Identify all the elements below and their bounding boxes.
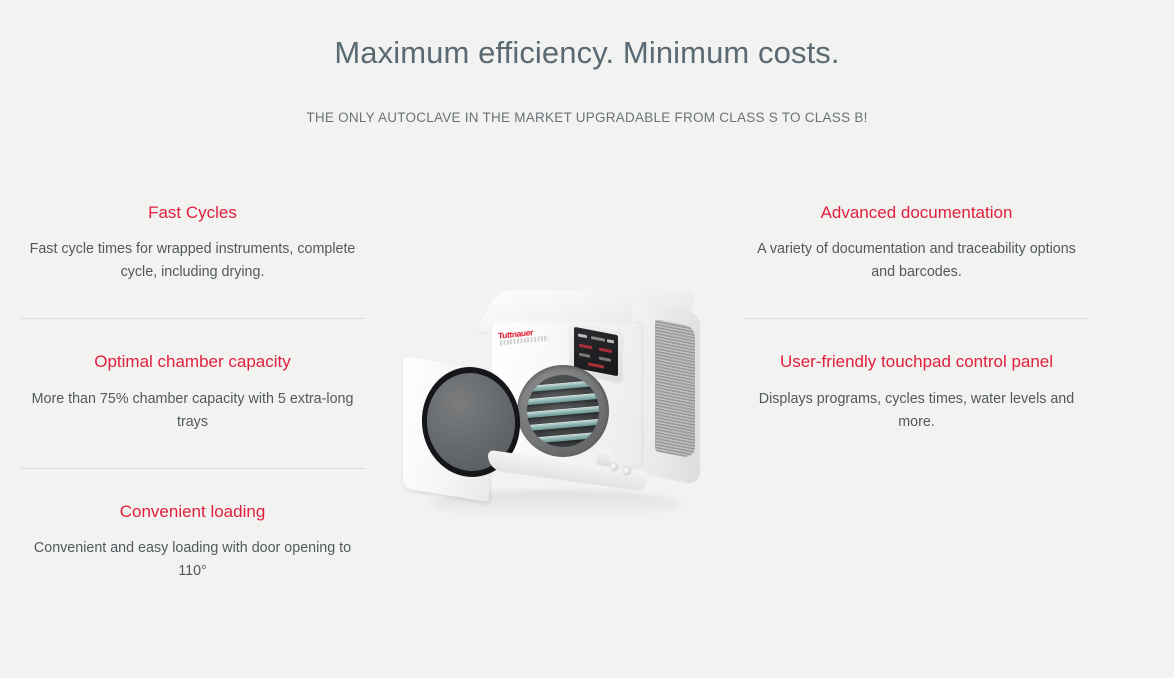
- page-subtitle: THE ONLY AUTOCLAVE IN THE MARKET UPGRADA…: [0, 71, 1174, 125]
- feature-block-fast-cycles: Fast Cycles Fast cycle times for wrapped…: [20, 170, 365, 284]
- feature-description: A variety of documentation and traceabil…: [746, 224, 1087, 284]
- left-feature-column: Fast Cycles Fast cycle times for wrapped…: [20, 170, 365, 583]
- feature-title: Fast Cycles: [22, 170, 363, 224]
- feature-title: User-friendly touchpad control panel: [746, 319, 1087, 373]
- features-grid: Fast Cycles Fast cycle times for wrapped…: [0, 170, 1174, 583]
- feature-block-advanced-documentation: Advanced documentation A variety of docu…: [744, 170, 1089, 284]
- feature-block-touchpad-control-panel: User-friendly touchpad control panel Dis…: [744, 319, 1089, 433]
- feature-description: Fast cycle times for wrapped instruments…: [22, 224, 363, 284]
- page-title: Maximum efficiency. Minimum costs.: [0, 34, 1174, 71]
- feature-title: Optimal chamber capacity: [22, 319, 363, 373]
- feature-title: Convenient loading: [22, 469, 363, 523]
- feature-block-chamber-capacity: Optimal chamber capacity More than 75% c…: [20, 319, 365, 433]
- page-header: Maximum efficiency. Minimum costs. THE O…: [0, 0, 1174, 125]
- feature-block-convenient-loading: Convenient loading Convenient and easy l…: [20, 469, 365, 583]
- feature-description: More than 75% chamber capacity with 5 ex…: [22, 374, 363, 434]
- feature-description: Convenient and easy loading with door op…: [22, 523, 363, 583]
- feature-title: Advanced documentation: [746, 170, 1087, 224]
- right-feature-column: Advanced documentation A variety of docu…: [744, 170, 1089, 434]
- feature-description: Displays programs, cycles times, water l…: [746, 374, 1087, 434]
